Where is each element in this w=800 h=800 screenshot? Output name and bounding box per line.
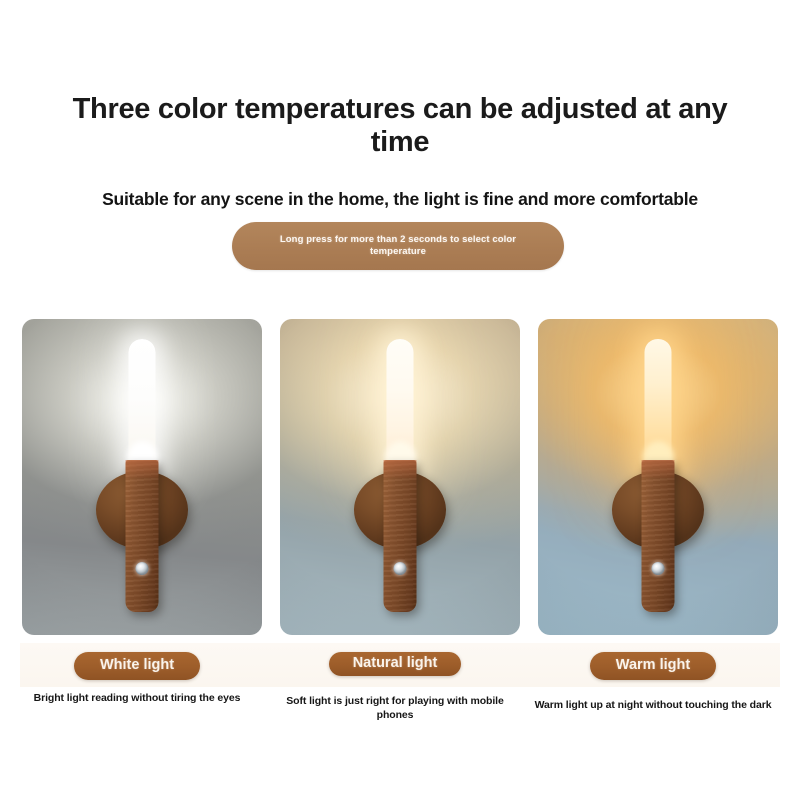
lamp-tube-icon [129, 339, 156, 471]
product-feature-page: Three color temperatures can be adjusted… [0, 0, 800, 800]
lamp-sensor-button [652, 562, 665, 575]
lamp-wood-body [384, 460, 417, 612]
long-press-notice-text: Long press for more than 2 seconds to se… [266, 234, 530, 258]
wall-lamp-natural [340, 319, 460, 635]
lamp-sensor-button [136, 562, 149, 575]
mode-column-natural-light: Natural light Soft light is just right f… [266, 652, 524, 722]
lamp-body-sheen [384, 460, 417, 478]
lamp-tube-icon [645, 339, 672, 471]
mode-label-warm-light[interactable]: Warm light [590, 652, 716, 680]
mode-column-white-light: White light Bright light reading without… [8, 652, 266, 705]
mode-caption-white-light: Bright light reading without tiring the … [16, 691, 258, 705]
long-press-notice-banner: Long press for more than 2 seconds to se… [232, 222, 564, 270]
lamp-tube-icon [387, 339, 414, 471]
mode-column-warm-light: Warm light Warm light up at night withou… [524, 652, 782, 712]
lamp-body-sheen [126, 460, 159, 478]
page-title: Three color temperatures can be adjusted… [50, 93, 750, 158]
lamp-wood-body [126, 460, 159, 612]
page-subtitle: Suitable for any scene in the home, the … [30, 189, 770, 210]
wall-lamp-white [82, 319, 202, 635]
mode-caption-natural-light: Soft light is just right for playing wit… [267, 694, 523, 722]
mode-label-white-light[interactable]: White light [74, 652, 200, 680]
lamp-wood-body [642, 460, 675, 612]
lamp-sensor-button [394, 562, 407, 575]
product-photo-row [0, 319, 800, 635]
mode-caption-warm-light: Warm light up at night without touching … [532, 698, 774, 712]
product-photo-warm-light [538, 319, 778, 635]
lamp-body-sheen [642, 460, 675, 478]
wall-lamp-warm [598, 319, 718, 635]
product-photo-natural-light [280, 319, 520, 635]
product-photo-white-light [22, 319, 262, 635]
mode-label-natural-light[interactable]: Natural light [329, 652, 462, 676]
